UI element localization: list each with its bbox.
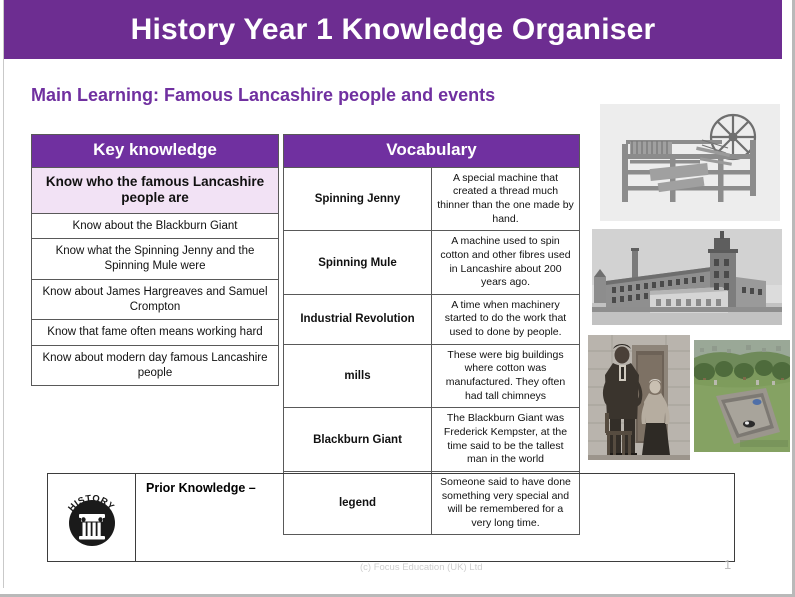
vocabulary-definition-3: These were big buildings where cotton wa… — [432, 344, 580, 408]
key-knowledge-table: Key knowledge Know who the famous Lancas… — [31, 134, 279, 386]
key-knowledge-header: Key knowledge — [32, 135, 279, 168]
blackburn-giant-photo — [588, 335, 690, 460]
vocabulary-definition-2: A time when machinery started to do the … — [432, 294, 580, 344]
page-title: History Year 1 Knowledge Organiser — [131, 15, 656, 45]
table-row: Industrial Revolution A time when machin… — [284, 294, 580, 344]
key-knowledge-cell-5: Know about modern day famous Lancashire … — [32, 345, 279, 385]
vocabulary-definition-1: A machine used to spin cotton and other … — [432, 231, 580, 295]
page-title-bar: History Year 1 Knowledge Organiser — [4, 0, 782, 59]
vocabulary-term-3: mills — [284, 344, 432, 408]
table-row: mills These were big buildings where cot… — [284, 344, 580, 408]
table-row: Know about the Blackburn Giant — [32, 213, 279, 239]
key-knowledge-cell-0: Know who the famous Lancashire people ar… — [32, 167, 279, 213]
vocabulary-header-row: Vocabulary — [284, 135, 580, 168]
knowledge-organiser-page: History Year 1 Knowledge Organiser Main … — [0, 0, 795, 597]
spinning-jenny-photo — [600, 104, 780, 221]
vocabulary-term-4: Blackburn Giant — [284, 408, 432, 472]
table-row: Know who the famous Lancashire people ar… — [32, 167, 279, 213]
footer-credit: (c) Focus Education (UK) Ltd — [360, 562, 483, 573]
vocabulary-definition-0: A special machine that created a thread … — [432, 167, 580, 231]
vocabulary-header: Vocabulary — [284, 135, 580, 168]
key-knowledge-cell-3: Know about James Hargreaves and Samuel C… — [32, 279, 279, 319]
cotton-mill-photo — [592, 229, 782, 325]
key-knowledge-cell-1: Know about the Blackburn Giant — [32, 213, 279, 239]
prior-knowledge-box[interactable]: HISTORY Prior Knowledge – — [47, 473, 735, 562]
prior-knowledge-label: Prior Knowledge – — [146, 481, 734, 495]
vocabulary-term-0: Spinning Jenny — [284, 167, 432, 231]
prior-knowledge-body[interactable]: Prior Knowledge – — [136, 474, 734, 561]
table-row: Know about James Hargreaves and Samuel C… — [32, 279, 279, 319]
key-knowledge-cell-4: Know that fame often means working hard — [32, 320, 279, 346]
history-logo-cell: HISTORY — [48, 474, 136, 561]
key-knowledge-header-row: Key knowledge — [32, 135, 279, 168]
grave-photo — [694, 340, 790, 452]
history-logo-icon: HISTORY — [63, 487, 121, 549]
table-row: Spinning Mule A machine used to spin cot… — [284, 231, 580, 295]
vocabulary-definition-4: The Blackburn Giant was Frederick Kempst… — [432, 408, 580, 472]
main-learning-heading: Main Learning: Famous Lancashire people … — [31, 85, 495, 106]
vocabulary-term-1: Spinning Mule — [284, 231, 432, 295]
table-row: Blackburn Giant The Blackburn Giant was … — [284, 408, 580, 472]
table-row: Know about modern day famous Lancashire … — [32, 345, 279, 385]
footer-page-number: 1 — [724, 557, 731, 572]
table-row: Spinning Jenny A special machine that cr… — [284, 167, 580, 231]
vocabulary-term-2: Industrial Revolution — [284, 294, 432, 344]
table-row: Know that fame often means working hard — [32, 320, 279, 346]
table-row: Know what the Spinning Jenny and the Spi… — [32, 239, 279, 279]
key-knowledge-cell-2: Know what the Spinning Jenny and the Spi… — [32, 239, 279, 279]
